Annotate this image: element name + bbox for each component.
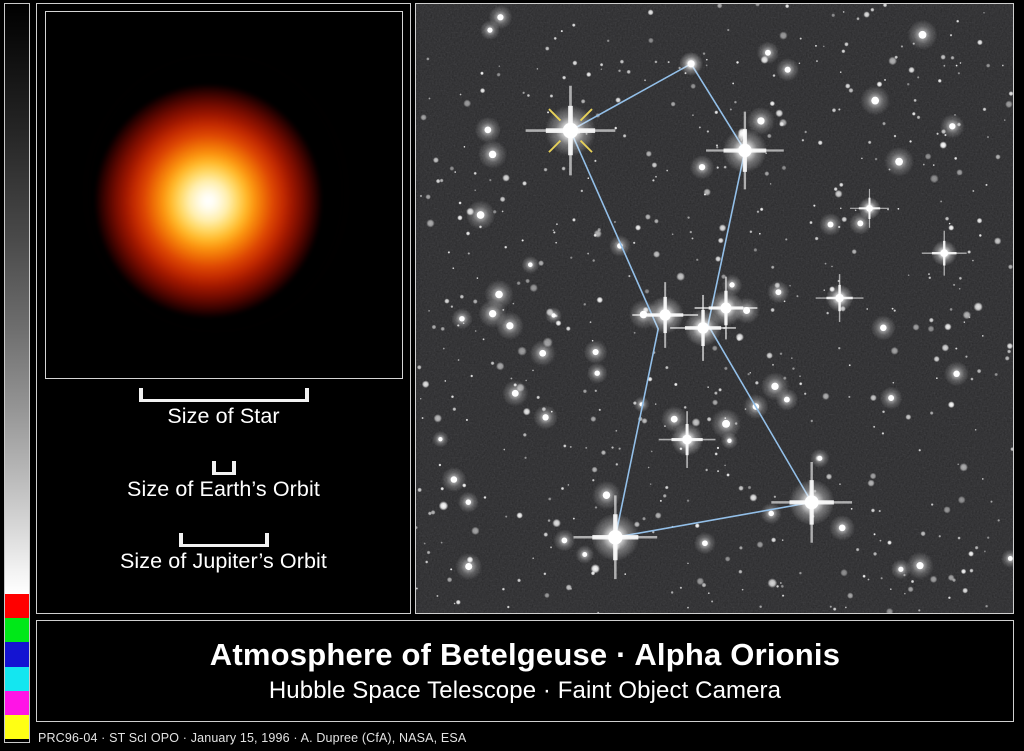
orion-starfield-panel [415, 3, 1014, 614]
page-subtitle: Hubble Space Telescope · Faint Object Ca… [269, 677, 781, 705]
scale-bar-jupiter-orbit [179, 533, 269, 547]
scale-bar-star [139, 388, 309, 402]
colorbar-swatch-green [5, 618, 29, 642]
betelgeuse-disk-image [91, 59, 341, 327]
scale-label-earth-orbit: Size of Earth’s Orbit [37, 476, 410, 502]
colorbar-swatch-red [5, 594, 29, 618]
press-release-graphic: Size of Star Size of Earth’s Orbit Size … [0, 0, 1024, 751]
intensity-colorbar [4, 3, 30, 743]
betelgeuse-panel: Size of Star Size of Earth’s Orbit Size … [36, 3, 411, 614]
title-panel: Atmosphere of Betelgeuse · Alpha Orionis… [36, 620, 1014, 722]
betelgeuse-image-frame [45, 11, 403, 379]
colorbar-swatch-blue [5, 642, 29, 666]
credit-line: PRC96-04 · ST ScI OPO · January 15, 1996… [38, 731, 466, 745]
colorbar-swatch-magenta [5, 691, 29, 715]
colorbar-swatch-cyan [5, 667, 29, 691]
scale-size-of-star: Size of Star [37, 388, 410, 429]
scale-size-of-earth-orbit: Size of Earth’s Orbit [37, 461, 410, 502]
orion-starfield-plot [416, 4, 1013, 613]
scale-size-of-jupiter-orbit: Size of Jupiter’s Orbit [37, 533, 410, 574]
scale-label-star: Size of Star [37, 403, 410, 429]
scale-bar-earth-orbit [212, 461, 236, 475]
scale-label-jupiter-orbit: Size of Jupiter’s Orbit [37, 548, 410, 574]
grayscale-ramp [5, 4, 29, 594]
page-title: Atmosphere of Betelgeuse · Alpha Orionis [210, 637, 840, 673]
colorbar-swatch-yellow [5, 715, 29, 739]
